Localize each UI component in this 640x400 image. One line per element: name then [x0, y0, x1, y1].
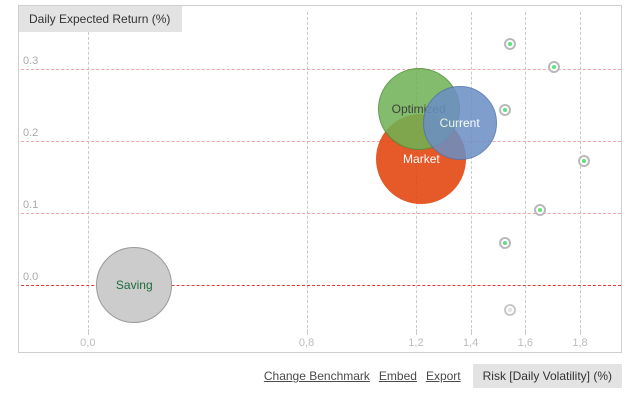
- scatter-marker[interactable]: [504, 304, 516, 316]
- gridline-horizontal: [21, 141, 621, 142]
- scatter-marker-core: [508, 308, 512, 312]
- bubble-label: Market: [403, 153, 440, 165]
- scatter-marker[interactable]: [499, 104, 511, 116]
- chart-frame: Daily Expected Return (%) 0,00,81,21,41,…: [18, 5, 622, 353]
- bubble-label: Saving: [116, 279, 153, 291]
- y-axis-tick-label: 0.3: [23, 55, 53, 67]
- bubble-label: Current: [440, 117, 480, 129]
- gridline-vertical: [307, 12, 308, 328]
- x-axis-title: Risk [Daily Volatility] (%): [473, 364, 622, 388]
- export-link[interactable]: Export: [426, 369, 461, 383]
- scatter-marker[interactable]: [534, 204, 546, 216]
- gridline-vertical: [525, 12, 526, 328]
- gridline-horizontal: [21, 213, 621, 214]
- scatter-marker-core: [508, 42, 512, 46]
- bubble-current[interactable]: Current: [423, 86, 497, 160]
- change-benchmark-link[interactable]: Change Benchmark: [264, 369, 370, 383]
- y-axis-tick-label: 0.0: [23, 271, 53, 283]
- gridline-vertical: [580, 12, 581, 328]
- gridline-horizontal: [21, 69, 621, 70]
- bubble-saving[interactable]: Saving: [96, 247, 172, 323]
- y-axis-tick-label: 0.2: [23, 127, 53, 139]
- x-axis-tick-mark: [525, 329, 526, 335]
- scatter-marker[interactable]: [578, 155, 590, 167]
- x-axis-tick-mark: [416, 329, 417, 335]
- scatter-marker-core: [552, 65, 556, 69]
- gridline-vertical: [471, 12, 472, 328]
- x-axis-tick-label: 1,6: [505, 337, 545, 349]
- y-axis-tick-label: 0.1: [23, 199, 53, 211]
- x-axis-tick-label: 0,8: [287, 337, 327, 349]
- x-axis-tick-label: 1,8: [560, 337, 600, 349]
- x-axis-tick-mark: [307, 329, 308, 335]
- x-axis-tick-mark: [88, 329, 89, 335]
- scatter-marker[interactable]: [548, 61, 560, 73]
- scatter-marker-core: [582, 159, 586, 163]
- x-axis-tick-mark: [580, 329, 581, 335]
- chart-toolbar: Change Benchmark Embed Export Risk [Dail…: [18, 360, 622, 392]
- gridline-vertical: [88, 12, 89, 328]
- scatter-marker[interactable]: [504, 38, 516, 50]
- x-axis-tick-label: 1,2: [396, 337, 436, 349]
- scatter-marker-core: [503, 108, 507, 112]
- x-axis-tick-mark: [471, 329, 472, 335]
- scatter-marker[interactable]: [499, 237, 511, 249]
- x-axis-tick-label: 1,4: [451, 337, 491, 349]
- bubble-chart-widget: Daily Expected Return (%) 0,00,81,21,41,…: [0, 0, 640, 400]
- x-axis-tick-label: 0,0: [68, 337, 108, 349]
- scatter-marker-core: [503, 241, 507, 245]
- plot-area: 0,00,81,21,41,61,80.30.20.10.0SavingMark…: [55, 12, 621, 328]
- y-axis-title: Daily Expected Return (%): [19, 6, 182, 32]
- embed-link[interactable]: Embed: [379, 369, 417, 383]
- scatter-marker-core: [538, 208, 542, 212]
